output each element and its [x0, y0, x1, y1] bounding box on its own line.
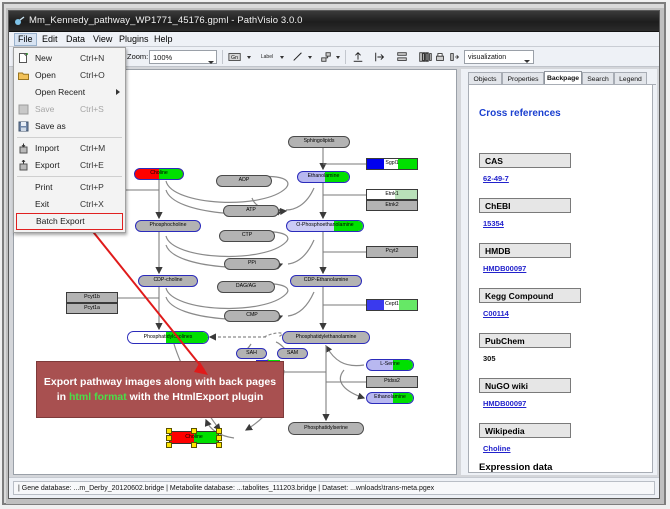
gene-etnk2[interactable]: Etnk2: [366, 200, 418, 211]
line-tool-icon[interactable]: [291, 49, 305, 65]
node-sam[interactable]: SAM: [277, 348, 308, 359]
visualization-value: visualization: [468, 54, 506, 61]
node-sah[interactable]: SAH: [236, 348, 267, 359]
menu-item-accel: Ctrl+M: [80, 143, 105, 153]
zoom-combo[interactable]: 100%: [149, 50, 217, 64]
menu-item-open-recent[interactable]: Open Recent: [14, 84, 125, 101]
expression-data-title: Expression data: [479, 462, 552, 473]
menu-separator: [17, 137, 122, 138]
node-phosphatidylcholines[interactable]: Phosphatidylcholines: [127, 331, 209, 344]
node-cdp-choline[interactable]: CDP-choline: [138, 275, 198, 287]
backpage-content[interactable]: Cross references CAS 62-49-7 ChEBI 15354…: [468, 85, 653, 473]
xref-db-hmdb: HMDB: [479, 243, 571, 258]
menu-item-label: Open Recent: [35, 87, 85, 97]
node-sphingolipids[interactable]: Sphingolipids: [288, 136, 350, 148]
save-as-icon: [18, 121, 29, 132]
selection-handle[interactable]: [216, 428, 222, 434]
screen-root: Mm_Kennedy_pathway_WP1771_45176.gpml - P…: [0, 0, 670, 509]
gene-product-icon[interactable]: Gn: [227, 49, 243, 65]
open-folder-icon: [18, 70, 29, 81]
zoom-label: Zoom:: [127, 52, 148, 61]
xref-value-cas[interactable]: 62-49-7: [483, 174, 509, 183]
print-icon[interactable]: [433, 49, 447, 65]
menu-item-batch-export[interactable]: Batch Export: [16, 213, 123, 230]
xref-value-pubchem: 305: [483, 354, 496, 363]
node-atp[interactable]: ATP: [223, 205, 279, 217]
menu-plugins[interactable]: Plugins: [115, 33, 153, 46]
menu-view[interactable]: View: [89, 33, 116, 46]
save-disk-icon: [18, 104, 29, 115]
node-choline-top[interactable]: Choline: [134, 168, 184, 180]
tab-backpage[interactable]: Backpage: [544, 71, 582, 85]
selection-handle[interactable]: [191, 428, 197, 434]
node-ethanolamine-top[interactable]: Ethanolamine: [297, 171, 350, 183]
xref-value-chebi[interactable]: 15354: [483, 219, 504, 228]
callout-highlight: html format: [69, 391, 127, 403]
node-phosphatidylethanolamine[interactable]: Phosphatidylethanolamine: [282, 331, 370, 344]
menu-item-label: Batch Export: [36, 216, 85, 226]
menu-item-label: Print: [35, 182, 52, 192]
node-cmp[interactable]: CMP: [224, 310, 280, 322]
menu-item-open[interactable]: Open Ctrl+O: [14, 67, 125, 84]
chevron-right-icon: [116, 89, 120, 95]
node-cdp-ethanolamine[interactable]: CDP-Ethanolamine: [290, 275, 362, 287]
gene-cept1[interactable]: Cept1: [366, 299, 418, 311]
selection-handle[interactable]: [166, 435, 172, 441]
node-ctp[interactable]: CTP: [219, 230, 275, 242]
order-icon[interactable]: [448, 49, 462, 65]
common-width-icon[interactable]: [420, 49, 434, 65]
menu-item-label: Open: [35, 70, 56, 80]
chevron-down-icon[interactable]: [308, 56, 312, 59]
zoom-value: 100%: [153, 53, 172, 62]
menu-file[interactable]: File: [14, 33, 37, 46]
menu-item-accel: Ctrl+E: [80, 160, 104, 170]
node-ppi[interactable]: PPi: [224, 258, 280, 270]
callout-text-after: with the HtmlExport plugin: [127, 391, 264, 403]
svg-text:Gn: Gn: [231, 55, 238, 61]
selection-handle[interactable]: [216, 442, 222, 448]
xref-db-cas: CAS: [479, 153, 571, 168]
menu-item-exit[interactable]: Exit Ctrl+X: [14, 196, 125, 213]
selection-handle[interactable]: [191, 442, 197, 448]
file-dropdown-menu: New Ctrl+N Open Ctrl+O Open Recent Save …: [13, 47, 126, 233]
cross-references-title: Cross references: [479, 108, 561, 119]
gene-etnk1[interactable]: Etnk1: [366, 189, 418, 200]
title-bar: Mm_Kennedy_pathway_WP1771_45176.gpml - P…: [9, 11, 659, 32]
chevron-down-icon[interactable]: [280, 56, 284, 59]
gene-pcyt1b[interactable]: Pcyt1b: [66, 292, 118, 303]
gene-pcyt1a[interactable]: Pcyt1a: [66, 303, 118, 314]
menu-item-accel: Ctrl+P: [80, 182, 104, 192]
toolbar-separator: [345, 50, 346, 64]
interaction-tool-icon[interactable]: [319, 49, 333, 65]
align-top-icon[interactable]: [350, 49, 366, 65]
menu-item-accel: Ctrl+S: [80, 104, 104, 114]
xref-db-nugo: NuGO wiki: [479, 378, 571, 393]
node-ethanolamine-right[interactable]: Ethanolamine: [366, 392, 414, 404]
menu-bar: File Edit Data View Plugins Help: [9, 32, 659, 47]
window-title: Mm_Kennedy_pathway_WP1771_45176.gpml - P…: [29, 15, 303, 26]
side-panel: Objects Properties Backpage Search Legen…: [461, 69, 657, 475]
node-l-serine[interactable]: L-Serine: [366, 359, 414, 371]
menu-item-label: Exit: [35, 199, 49, 209]
gene-ptdss2[interactable]: Ptdss2: [366, 376, 418, 388]
menu-item-label: Save as: [35, 121, 66, 131]
menu-item-import[interactable]: Import Ctrl+M: [14, 140, 125, 157]
xref-value-hmdb[interactable]: HMDB00097: [483, 264, 526, 273]
menu-edit[interactable]: Edit: [38, 33, 62, 46]
pathvisio-icon: [14, 16, 25, 27]
xref-db-pubchem: PubChem: [479, 333, 571, 348]
gene-pcyt2[interactable]: Pcyt2: [366, 246, 418, 258]
menu-item-print[interactable]: Print Ctrl+P: [14, 179, 125, 196]
menu-item-accel: Ctrl+N: [80, 53, 104, 63]
gene-sgpl1[interactable]: Sgpl1: [366, 158, 418, 170]
menu-item-accel: Ctrl+X: [80, 199, 104, 209]
chevron-down-icon[interactable]: [247, 56, 251, 59]
menu-item-export[interactable]: Export Ctrl+E: [14, 157, 125, 174]
annotation-callout: Export pathway images along with back pa…: [36, 361, 284, 418]
chevron-down-icon[interactable]: [336, 56, 340, 59]
xref-value-kegg[interactable]: C00114: [483, 309, 509, 318]
node-dag-ag[interactable]: DAG/AG: [217, 281, 275, 293]
menu-item-new[interactable]: New Ctrl+N: [14, 50, 125, 67]
align-left-icon[interactable]: [372, 49, 388, 65]
export-icon: [18, 160, 29, 171]
status-text: | Gene database: ...m_Derby_20120602.bri…: [13, 481, 655, 495]
selection-handle[interactable]: [166, 428, 172, 434]
panel-tabstrip: Objects Properties Backpage Search Legen…: [468, 71, 656, 85]
node-phosphatidylserine[interactable]: Phosphatidylserine: [288, 422, 364, 435]
menu-help[interactable]: Help: [150, 33, 177, 46]
xref-db-wikipedia: Wikipedia: [479, 423, 571, 438]
chevron-down-icon: [208, 61, 214, 64]
node-phosphocholine[interactable]: Phosphocholine: [135, 220, 201, 232]
visualization-combo[interactable]: visualization: [464, 50, 534, 64]
menu-item-label: New: [35, 53, 52, 63]
new-file-icon: [18, 53, 29, 64]
xref-value-wikipedia[interactable]: Choline: [483, 444, 511, 453]
menu-item-save-as[interactable]: Save as: [14, 118, 125, 135]
node-o-phosphoethanolamine[interactable]: O-Phosphoethanolamine: [286, 220, 364, 232]
chevron-down-icon: [524, 60, 530, 63]
node-adp[interactable]: ADP: [216, 175, 272, 187]
menu-item-label: Export: [35, 160, 60, 170]
selection-handle[interactable]: [216, 435, 222, 441]
import-icon: [18, 143, 29, 154]
status-bar: | Gene database: ...m_Derby_20120602.bri…: [9, 477, 659, 498]
menu-item-label: Save: [35, 104, 54, 114]
menu-data[interactable]: Data: [62, 33, 89, 46]
menu-separator: [17, 176, 122, 177]
selection-handle[interactable]: [166, 442, 172, 448]
xref-value-nugo[interactable]: HMDB00097: [483, 399, 526, 408]
toolbar-separator: [222, 50, 223, 64]
xref-db-chebi: ChEBI: [479, 198, 571, 213]
menu-item-save: Save Ctrl+S: [14, 101, 125, 118]
xref-db-kegg: Kegg Compound: [479, 288, 581, 303]
label-tool-icon[interactable]: Label: [257, 49, 277, 65]
menu-item-accel: Ctrl+O: [80, 70, 105, 80]
menu-item-label: Import: [35, 143, 59, 153]
pathvisio-window: Mm_Kennedy_pathway_WP1771_45176.gpml - P…: [8, 10, 660, 499]
